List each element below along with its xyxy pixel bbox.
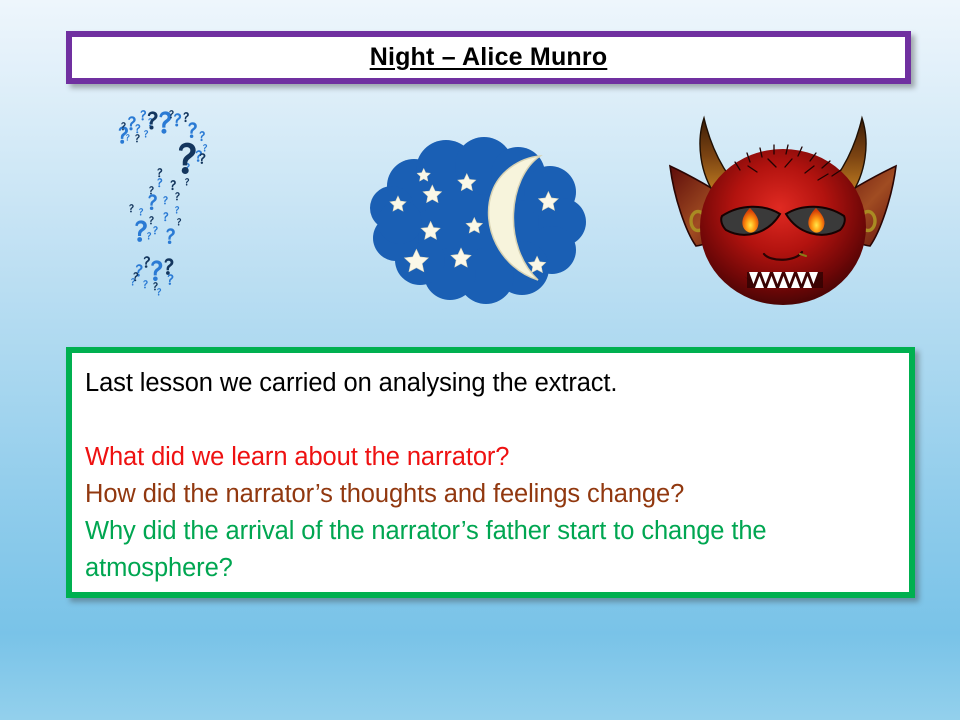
page-title: Night – Alice Munro	[370, 43, 608, 72]
content-line-3: How did the narrator’s thoughts and feel…	[85, 476, 893, 513]
slide-canvas: Night – Alice Munro	[0, 0, 960, 720]
mouth	[744, 272, 824, 288]
content-line-4: Why did the arrival of the narrator’s fa…	[85, 513, 893, 587]
question-marks-image	[112, 108, 230, 320]
content-line-1: Last lesson we carried on analysing the …	[85, 365, 893, 402]
content-box: Last lesson we carried on analysing the …	[66, 347, 915, 598]
title-box: Night – Alice Munro	[66, 31, 911, 84]
content-blank-line	[85, 402, 893, 439]
night-cloud-moon-image	[366, 134, 588, 306]
devil-face-image	[652, 104, 914, 316]
content-line-2: What did we learn about the narrator?	[85, 439, 893, 476]
